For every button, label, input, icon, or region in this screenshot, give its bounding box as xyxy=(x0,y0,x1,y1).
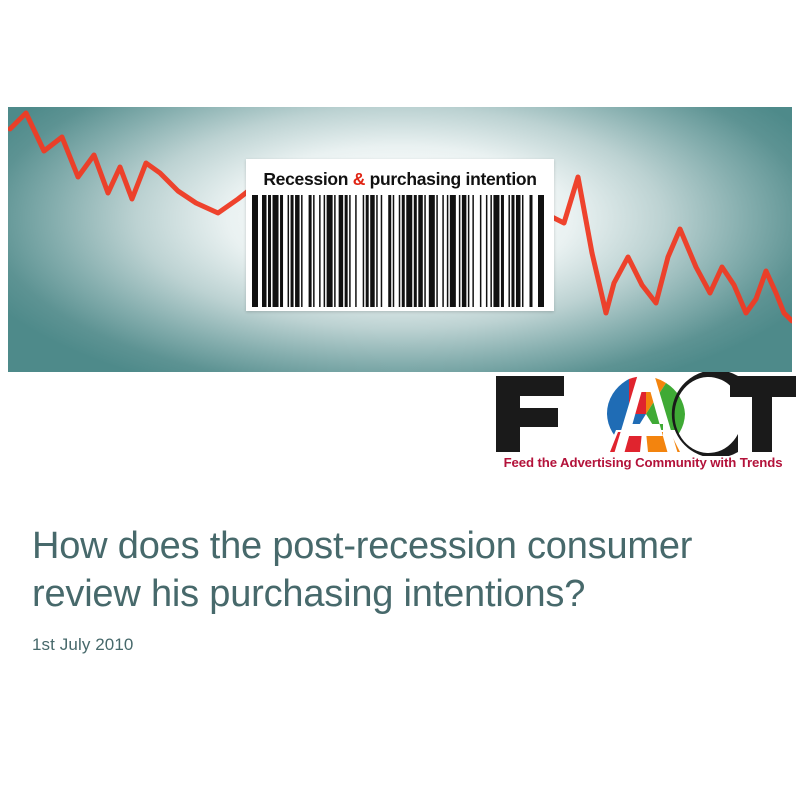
page-title: How does the post-recession consumer rev… xyxy=(32,522,762,618)
title-block: How does the post-recession consumer rev… xyxy=(32,522,762,655)
slide-canvas: Recession & purchasing intention xyxy=(0,0,800,800)
recession-banner-image: Recession & purchasing intention xyxy=(8,107,792,372)
barcode-title-suffix: purchasing intention xyxy=(365,169,537,189)
blue-segment xyxy=(607,379,629,414)
barcode-bar-pattern xyxy=(246,195,554,307)
barcode-title-row: Recession & purchasing intention xyxy=(246,162,554,196)
barcode-guard-bar-right xyxy=(538,195,544,307)
slide-date: 1st July 2010 xyxy=(32,635,762,655)
barcode-bars-container xyxy=(246,195,554,307)
fact-tagline: Feed the Advertising Community with Tren… xyxy=(490,455,796,470)
barcode-title-prefix: Recession xyxy=(263,169,352,189)
barcode-graphic: Recession & purchasing intention xyxy=(246,159,554,311)
fact-logo: Feed the Advertising Community with Tren… xyxy=(490,372,796,478)
fact-wordmark xyxy=(490,372,796,456)
barcode-guard-bar-left xyxy=(252,195,258,307)
fact-letter-t xyxy=(730,376,796,452)
banner-gradient-backdrop: Recession & purchasing intention xyxy=(8,107,792,372)
fact-letter-f xyxy=(496,376,564,452)
barcode-title: Recession & purchasing intention xyxy=(263,169,536,190)
barcode-title-ampersand: & xyxy=(353,169,365,189)
